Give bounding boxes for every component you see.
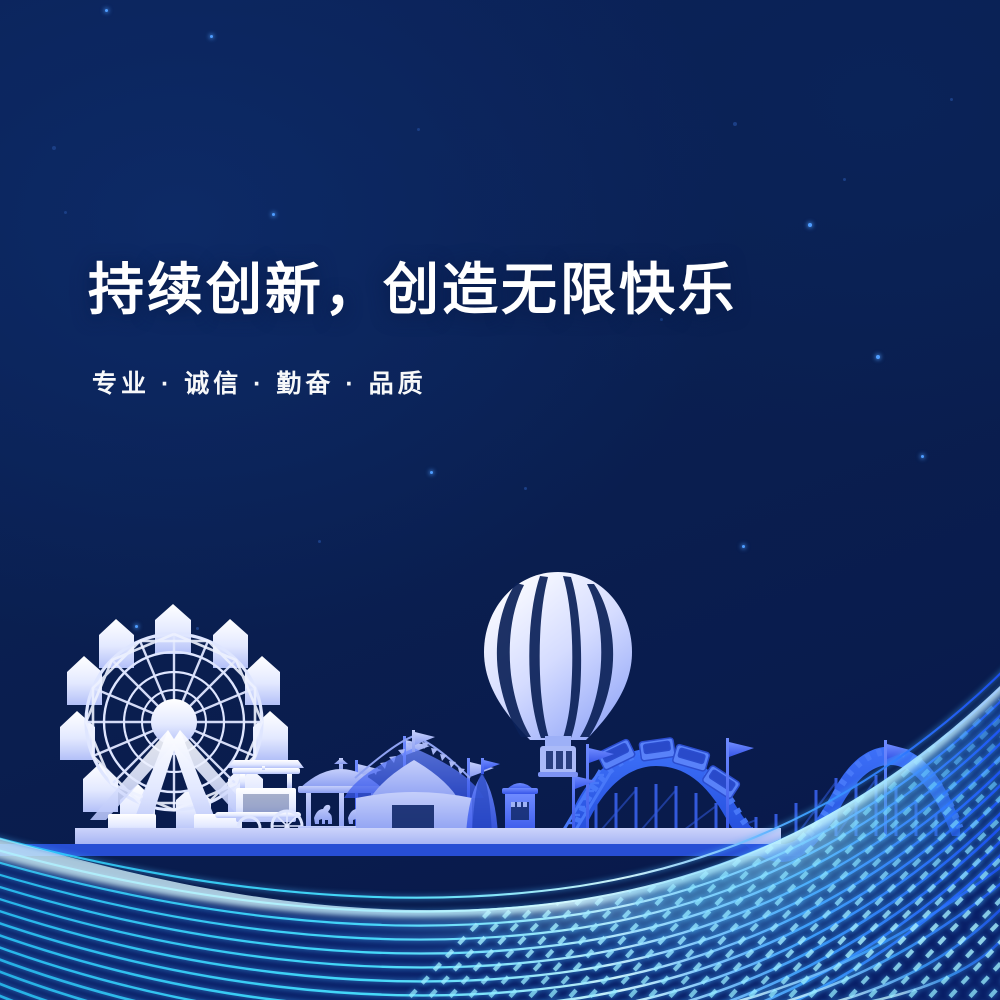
banner-canvas: 持续创新，创造无限快乐 专业 · 诚信 · 勤奋 · 品质 — [0, 0, 1000, 1000]
glow-wave — [0, 0, 1000, 1000]
subline: 专业 · 诚信 · 勤奋 · 品质 — [92, 364, 737, 400]
text-block: 持续创新，创造无限快乐 专业 · 诚信 · 勤奋 · 品质 — [88, 258, 737, 400]
headline: 持续创新，创造无限快乐 — [88, 258, 737, 322]
